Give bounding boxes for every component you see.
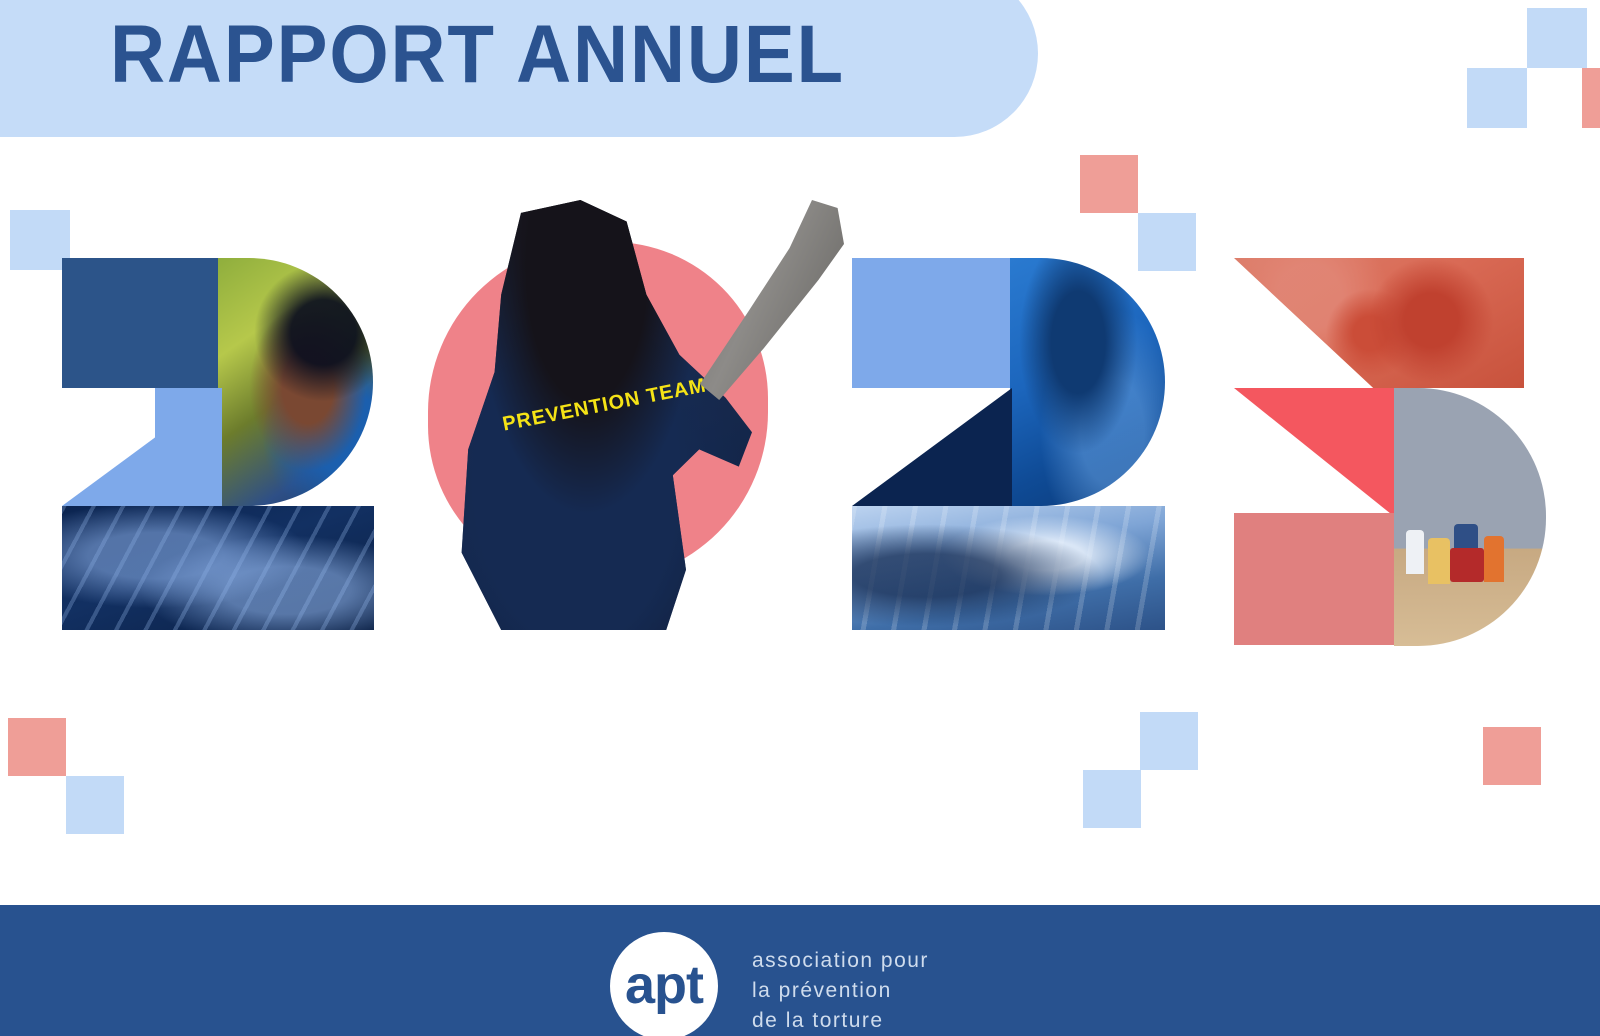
photo-group-seated-outdoors xyxy=(1394,388,1546,646)
decorative-square xyxy=(1582,68,1600,128)
logo-tagline-line-2: la prévention xyxy=(752,976,929,1006)
digit-block-coral-triangle xyxy=(1234,388,1396,518)
shirt-text-prevention-team: PREVENTION TEAM xyxy=(501,374,709,436)
logo-wordmark: apt xyxy=(610,958,718,1012)
digit-block-navy xyxy=(62,258,222,388)
photo-figures xyxy=(1394,388,1546,646)
year-digit-2-second xyxy=(820,200,1220,840)
photo-woman-speaking xyxy=(1010,258,1165,506)
digit-block-light-blue xyxy=(155,388,222,506)
logo-circle: apt xyxy=(610,932,718,1036)
apt-logo[interactable]: apt association pour la prévention de la… xyxy=(610,932,929,1036)
footer-band: apt association pour la prévention de la… xyxy=(0,905,1600,1036)
logo-tagline-line-3: de la torture xyxy=(752,1006,929,1036)
photo-figure xyxy=(1484,536,1504,582)
digit-block-navy-diagonal xyxy=(852,388,1012,506)
photo-woman-presenting xyxy=(1234,258,1524,388)
photo-police-officer xyxy=(218,258,373,506)
photo-hands-through-bars xyxy=(62,506,374,630)
photo-figure xyxy=(1428,538,1450,584)
photo-figure xyxy=(1406,530,1424,574)
page-title: RAPPORT ANNUEL xyxy=(110,8,845,102)
digit-block-light-blue xyxy=(852,258,1012,388)
digit-block-salmon xyxy=(1234,513,1396,645)
year-digit-0: PREVENTION TEAM xyxy=(400,200,820,840)
decorative-square xyxy=(1467,68,1527,128)
logo-tagline: association pour la prévention de la tor… xyxy=(752,946,929,1035)
annual-report-cover: PREVENTION TEAM xyxy=(0,0,1600,1036)
photo-hands-on-desk xyxy=(852,506,1165,630)
logo-tagline-line-1: association pour xyxy=(752,946,929,976)
photo-figure xyxy=(1450,548,1484,582)
decorative-square xyxy=(1527,8,1587,68)
year-digit-2-first xyxy=(0,200,400,840)
year-digit-3 xyxy=(1190,200,1600,840)
